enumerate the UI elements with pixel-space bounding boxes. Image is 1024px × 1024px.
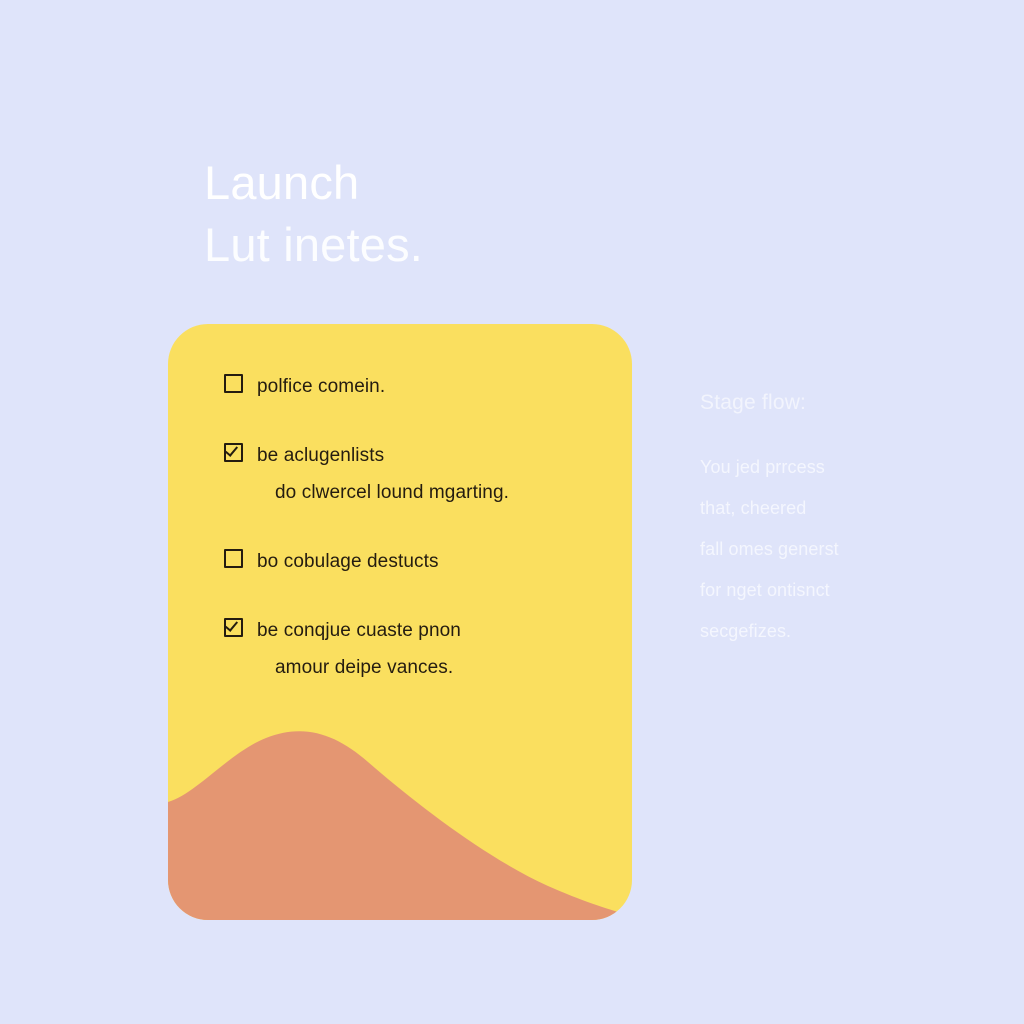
checklist-item-line-1: bo cobulage destucts [257,551,439,572]
poster-canvas: Launch Lut inetes. polfice comein. be ac… [0,0,1024,1024]
checklist-item-line-1: be aclugenlists [257,445,384,466]
checkbox-checked-icon[interactable] [224,618,243,637]
checklist-item[interactable]: bo cobulage destucts [224,543,604,580]
side-body-line: fall omes generst [700,538,950,561]
checklist-item-line-1: polfice comein. [257,376,385,397]
side-body-line: for nget ontisnct [700,579,950,602]
checklist-item[interactable]: be aclugenlists do clwercel lound mgarti… [224,437,604,511]
checklist-item-line-1: be conqjue cuaste pnon [257,620,461,641]
checklist-item-text: bo cobulage destucts [257,543,439,580]
checklist-item-text: be aclugenlists do clwercel lound mgarti… [257,437,509,511]
side-column: Stage flow: You jed prrcess that, cheere… [700,388,950,643]
checklist-card: polfice comein. be aclugenlists do clwer… [168,324,632,920]
checkbox-checked-icon[interactable] [224,443,243,462]
wave-decoration [168,690,632,920]
checklist-item[interactable]: be conqjue cuaste pnon amour deipe vance… [224,612,604,686]
side-body-line: that, cheered [700,497,950,520]
checklist-item[interactable]: polfice comein. [224,368,604,405]
page-title-line-2: Lut inetes. [204,214,664,276]
checkbox-unchecked-icon[interactable] [224,374,243,393]
checklist: polfice comein. be aclugenlists do clwer… [224,368,604,686]
checklist-item-text: polfice comein. [257,368,385,405]
side-body-line: secgefizes. [700,620,950,643]
page-title-line-1: Launch [204,152,664,214]
side-column-body: You jed prrcess that, cheered fall omes … [700,456,950,643]
side-body-line: You jed prrcess [700,456,950,479]
side-column-title: Stage flow: [700,388,950,418]
checklist-item-line-2: do clwercel lound mgarting. [275,474,509,511]
checklist-item-line-2: amour deipe vances. [275,649,461,686]
page-title: Launch Lut inetes. [204,152,664,276]
checkbox-unchecked-icon[interactable] [224,549,243,568]
checklist-item-text: be conqjue cuaste pnon amour deipe vance… [257,612,461,686]
